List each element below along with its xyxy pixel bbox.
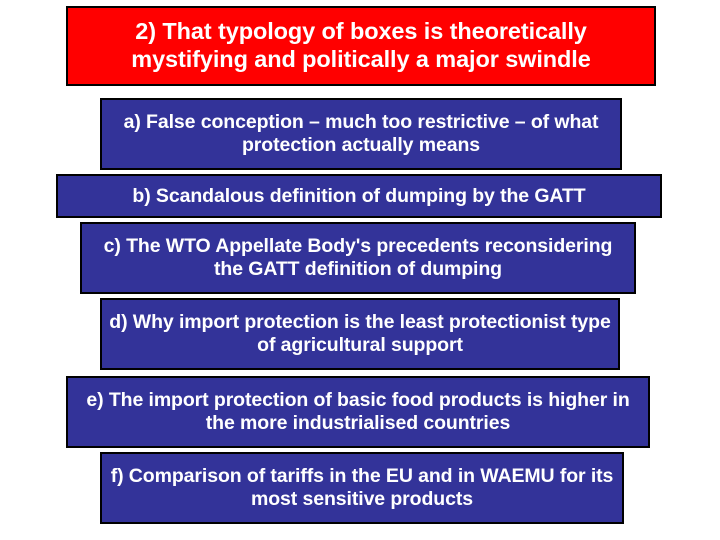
outline-item-d: d) Why import protection is the least pr… [100,298,620,370]
outline-item-d-text: d) Why import protection is the least pr… [108,311,612,357]
outline-item-b-text: b) Scandalous definition of dumping by t… [64,185,654,208]
slide-title-text: 2) That typology of boxes is theoretical… [74,18,648,73]
outline-item-b: b) Scandalous definition of dumping by t… [56,174,662,218]
outline-item-c-text: c) The WTO Appellate Body's precedents r… [88,235,628,281]
slide-title-box: 2) That typology of boxes is theoretical… [66,6,656,86]
outline-item-e-text: e) The import protection of basic food p… [74,389,642,435]
outline-item-a: a) False conception – much too restricti… [100,98,622,170]
outline-item-c: c) The WTO Appellate Body's precedents r… [80,222,636,294]
outline-item-f-text: f) Comparison of tariffs in the EU and i… [108,465,616,511]
outline-item-f: f) Comparison of tariffs in the EU and i… [100,452,624,524]
outline-item-a-text: a) False conception – much too restricti… [108,111,614,157]
slide-canvas: 2) That typology of boxes is theoretical… [0,0,720,540]
outline-item-e: e) The import protection of basic food p… [66,376,650,448]
